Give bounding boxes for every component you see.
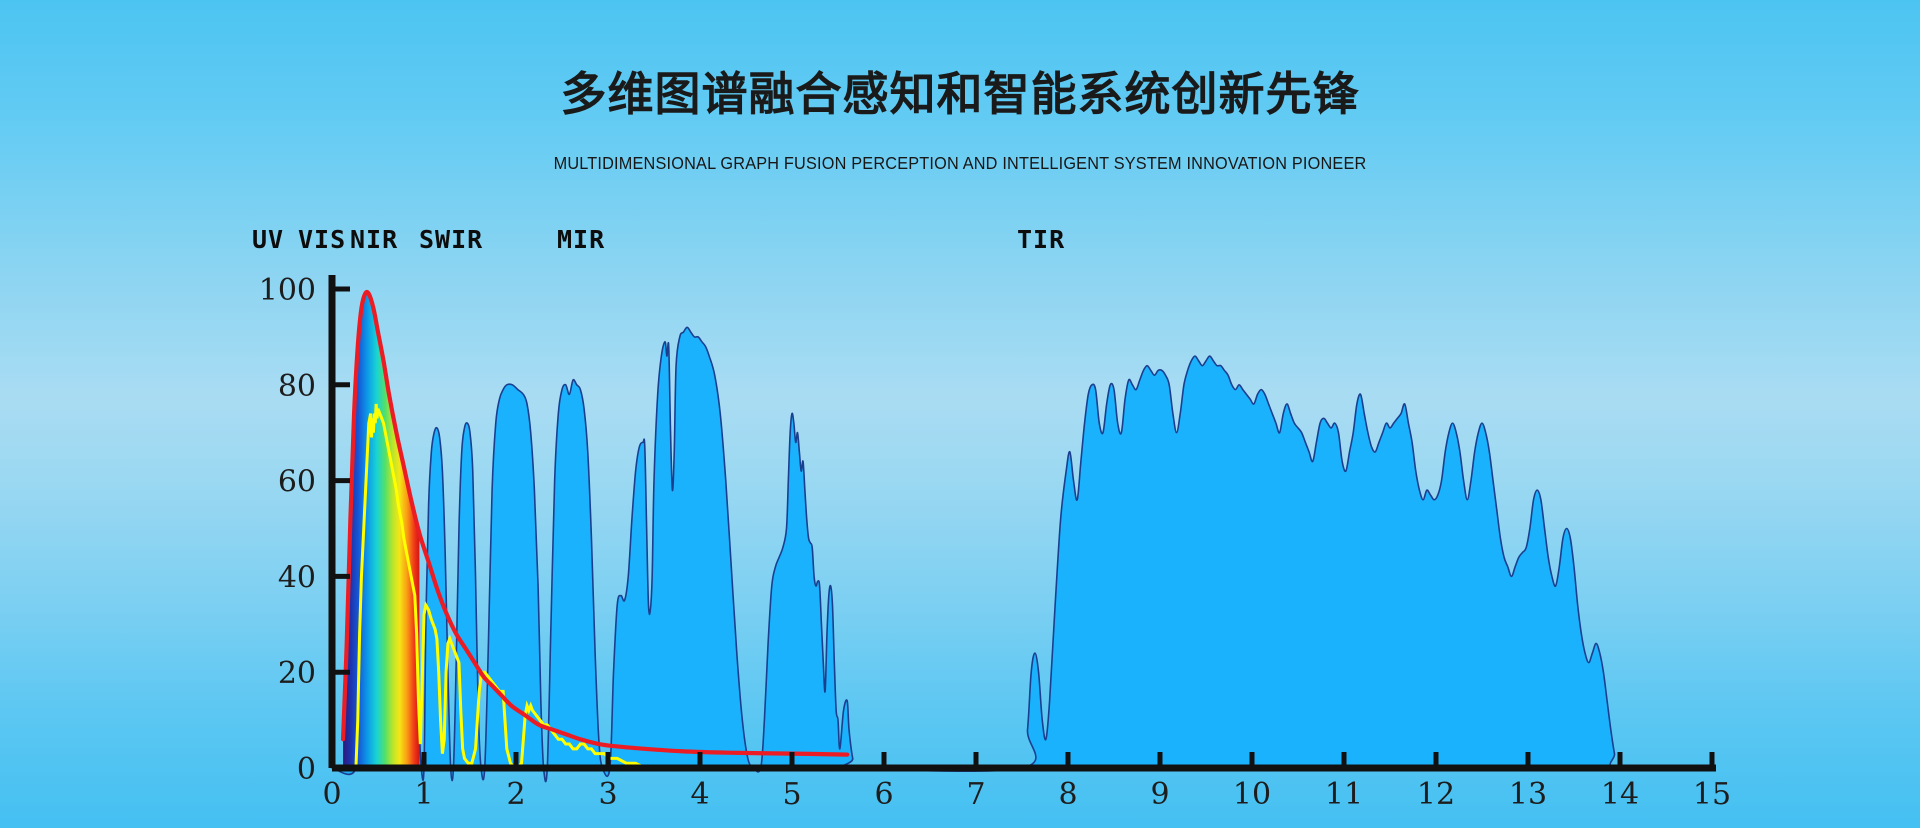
- x-tick-label: 13: [1509, 777, 1547, 812]
- y-tick-label: 0: [297, 752, 316, 787]
- x-tick-label: 14: [1601, 777, 1639, 812]
- x-tick-label: 15: [1693, 777, 1731, 812]
- x-tick-label: 3: [598, 777, 617, 812]
- x-tick-label: 9: [1150, 777, 1169, 812]
- y-tick-label: 60: [278, 465, 316, 500]
- x-tick-label: 8: [1058, 777, 1077, 812]
- x-tick-label: 0: [322, 777, 341, 812]
- x-tick-label: 2: [506, 777, 525, 812]
- x-tick-label: 1: [414, 777, 433, 812]
- x-tick-label: 12: [1417, 777, 1455, 812]
- atmospheric-transmission-area: [332, 327, 1712, 781]
- x-tick-label: 6: [874, 777, 893, 812]
- y-tick-label: 20: [278, 656, 316, 691]
- x-tick-label: 5: [782, 777, 801, 812]
- y-tick-label: 100: [259, 273, 316, 308]
- x-tick-label: 10: [1233, 777, 1271, 812]
- poster-canvas: 多维图谱融合感知和智能系统创新先锋 MULTIDIMENSIONAL GRAPH…: [0, 0, 1920, 828]
- x-tick-label: 11: [1325, 777, 1363, 812]
- x-tick-label: 7: [966, 777, 985, 812]
- spectrum-chart: 0123456789101112131415020406080100: [0, 0, 1920, 828]
- y-tick-label: 80: [278, 369, 316, 404]
- x-tick-label: 4: [690, 777, 709, 812]
- y-tick-label: 40: [278, 560, 316, 595]
